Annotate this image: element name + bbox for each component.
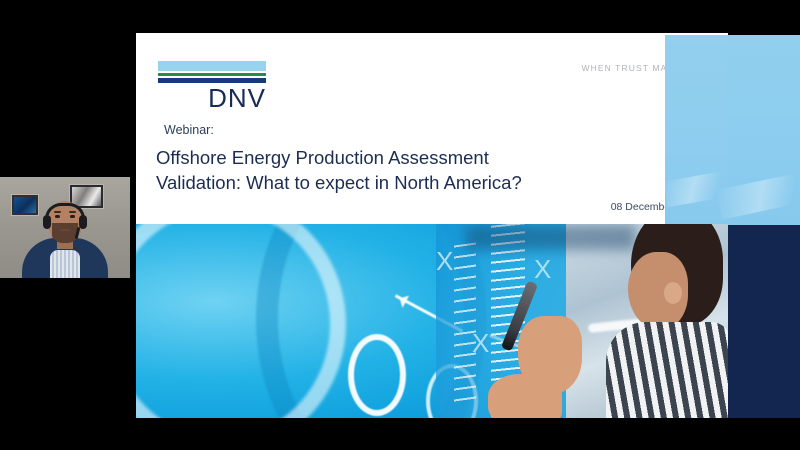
- wall-picture-left: [12, 195, 38, 215]
- speaker-webcam-tile[interactable]: [0, 177, 130, 278]
- headset-earcup-left-icon: [43, 215, 51, 229]
- dnv-wordmark: DNV: [158, 85, 266, 111]
- photo-person-hand: [518, 316, 582, 394]
- slide-right-accent-panel: [728, 35, 800, 225]
- photo-gauge-scale-secondary: [454, 242, 476, 405]
- photo-top-shadow: [466, 224, 636, 250]
- slide-title-line-2: Validation: What to expect in North Amer…: [156, 171, 626, 196]
- speaker-beard: [52, 223, 78, 243]
- slide-kicker: Webinar:: [164, 123, 214, 137]
- photo-ring-small-left: [348, 334, 406, 416]
- dnv-logo: DNV: [158, 61, 266, 111]
- speaker-shirt: [50, 250, 80, 278]
- screen-share-stage: DNV WHEN TRUST MATTERS Webinar: Offshore…: [0, 0, 800, 450]
- speaker-mouth: [60, 229, 70, 231]
- photo-mark-x-3: X: [534, 254, 551, 285]
- slide-right-navy-panel: [728, 225, 800, 418]
- page-title: Offshore Energy Production Assessment Va…: [156, 146, 626, 195]
- dnv-logo-bar-navy: [158, 78, 266, 83]
- dnv-logo-bar-light: [158, 61, 266, 71]
- hero-photo: X X X: [136, 224, 728, 418]
- photo-person-striped-shirt: [606, 322, 728, 418]
- slide-header-area: DNV WHEN TRUST MATTERS Webinar: Offshore…: [136, 33, 728, 224]
- slide-title-line-1: Offshore Energy Production Assessment: [156, 146, 626, 171]
- photo-mark-x-1: X: [436, 246, 453, 277]
- photo-ring-glow: [136, 224, 346, 418]
- shared-slide[interactable]: DNV WHEN TRUST MATTERS Webinar: Offshore…: [136, 33, 728, 418]
- photo-person-ear: [664, 282, 682, 304]
- photo-mark-x-2: X: [472, 328, 489, 359]
- headset-earcup-right-icon: [79, 215, 87, 229]
